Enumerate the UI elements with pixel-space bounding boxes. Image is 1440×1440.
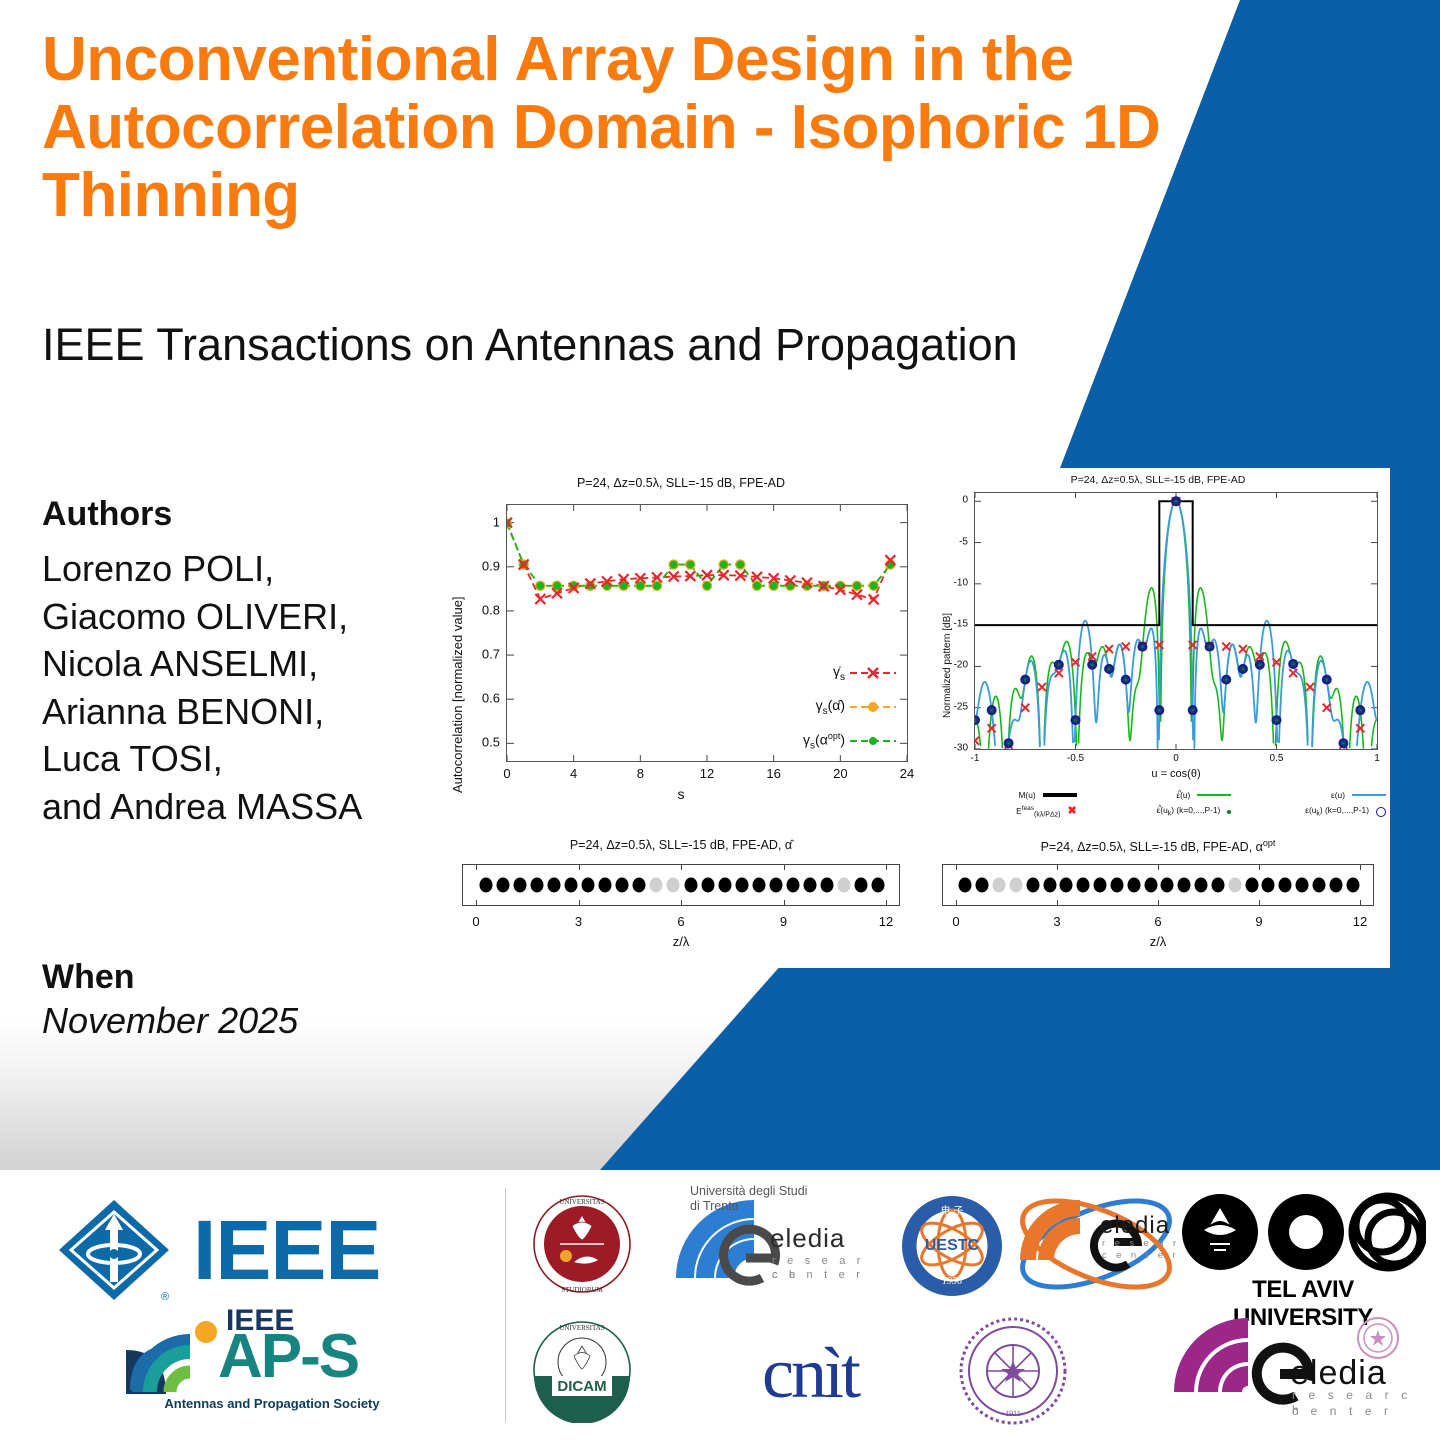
- array-element-on: [1296, 878, 1309, 893]
- array-element-on: [1262, 878, 1275, 893]
- svg-text:DICAM: DICAM: [557, 1378, 606, 1395]
- legend-swatch-gamma-opt: [850, 735, 896, 747]
- array-element-on: [821, 878, 834, 893]
- array-element-on: [1060, 878, 1073, 893]
- array-x-tick-label: 6: [1154, 914, 1161, 929]
- array-element-on: [547, 878, 560, 893]
- legend-label-mu: M(u): [1018, 790, 1035, 800]
- array-right-title-sup: opt: [1263, 838, 1276, 848]
- svg-text:STUDIORUM: STUDIORUM: [561, 1286, 603, 1294]
- array-element-on: [752, 878, 765, 893]
- array-tick-mark: [1360, 900, 1361, 906]
- y-tick-label: -30: [934, 743, 968, 754]
- unitn-seal-icon: UNIVERSITAS STUDIORUM: [530, 1192, 635, 1297]
- legend-marker-red-x: ✖: [1067, 806, 1076, 817]
- x-tick-label: -0.5: [1067, 753, 1084, 764]
- y-tick-label: -5: [934, 536, 968, 547]
- array-tick-mark: [784, 864, 785, 870]
- array-left-x-axis-label: z/λ: [436, 934, 926, 949]
- ieee-aps-logo: IEEE AP-S Antennas and Propagation Socie…: [108, 1300, 438, 1420]
- array-element-on: [787, 878, 800, 893]
- array-x-tick-label: 12: [1353, 914, 1367, 929]
- svg-text:UNIVERSITAS: UNIVERSITAS: [559, 1198, 604, 1206]
- autocorrelation-legend: γ̇s γs(α̂) γs(αopt): [736, 663, 896, 723]
- array-x-tick-label: 3: [1053, 914, 1060, 929]
- eledia-sub2-3: c e n t e r: [1292, 1404, 1393, 1419]
- eledia-wordmark-1: eledia: [770, 1226, 845, 1250]
- aps-wordmark: AP-S: [218, 1326, 358, 1388]
- eledia-sub2-1: c e n t e r: [772, 1268, 864, 1282]
- array-tick-mark: [1158, 900, 1159, 906]
- array-tick-mark: [579, 900, 580, 906]
- autocorrelation-x-axis-label: s: [436, 786, 926, 802]
- y-tick-label: 0.9: [460, 558, 500, 573]
- unitn-name-line2: di Trento: [690, 1199, 739, 1214]
- legend-entry-gamma-star: γ̇s: [736, 663, 896, 683]
- legend-label-eps: ε(u): [1331, 790, 1345, 800]
- poster-root: Unconventional Array Design in the Autoc…: [0, 0, 1440, 1440]
- y-tick-label: 0.5: [460, 735, 500, 750]
- legend-swatch-gamma-star: [850, 667, 896, 679]
- array-element-off: [838, 878, 851, 893]
- array-element-on: [1127, 878, 1140, 893]
- array-element-on: [769, 878, 782, 893]
- array-element-on: [1329, 878, 1342, 893]
- array-element-off: [667, 878, 680, 893]
- array-element-on: [1161, 878, 1174, 893]
- eledia-sub2-2: c e n t e r: [1102, 1250, 1179, 1262]
- x-tick-label: 0: [503, 766, 510, 781]
- legend-label-eps-uk: ε(uk) (k=0,...,P-1): [1305, 805, 1369, 818]
- unitn-name-line1: Università degli Studi: [690, 1184, 807, 1199]
- y-tick-label: 0: [934, 495, 968, 506]
- array-tick-mark: [1259, 864, 1260, 870]
- legend-entry-eps: ε(u): [1235, 790, 1390, 800]
- legend-line-black: [1043, 793, 1077, 796]
- array-element-on: [959, 878, 972, 893]
- cnit-wordmark: cnìt: [762, 1332, 858, 1415]
- tel-aviv-university-logo: TEL AVIV UNIVERSITY: [1180, 1190, 1430, 1305]
- x-tick-label: 1: [1374, 753, 1380, 764]
- array-tick-mark: [886, 900, 887, 906]
- y-tick-label: 0.8: [460, 602, 500, 617]
- autocorrelation-plot-area: [506, 504, 908, 762]
- figure-panel-left: P=24, Δz=0.5λ, SLL=-15 dB, FPE-AD Autoco…: [436, 468, 926, 968]
- array-element-on: [496, 878, 509, 893]
- array-tick-mark: [1057, 900, 1058, 906]
- array-x-tick-label: 0: [952, 914, 959, 929]
- y-tick-label: -15: [934, 619, 968, 630]
- eledia-unitn-logo: Università degli Studi di Trento eledia …: [670, 1188, 880, 1298]
- x-tick-label: 24: [900, 766, 914, 781]
- legend-line-blue: [1352, 794, 1386, 796]
- array-element-on: [1077, 878, 1090, 893]
- svg-text:电 子: 电 子: [941, 1204, 964, 1217]
- cnit-logo: cnìt: [700, 1328, 920, 1418]
- dicam-seal-icon: DICAM UNIVERSITAS: [530, 1318, 635, 1423]
- array-element-on: [1178, 878, 1191, 893]
- legend-marker-blue-circle: [1376, 807, 1386, 817]
- legend-label-eps-hat-uk: ^ε(uk) (k=0,...,P-1): [1158, 805, 1220, 818]
- array-tick-mark: [681, 864, 682, 870]
- array-element-on: [804, 878, 817, 893]
- svg-text:UESTC: UESTC: [925, 1237, 980, 1254]
- legend-entry-efeas: Efeas(kλ/PΔz) ✖: [926, 805, 1081, 818]
- array-element-on: [1279, 878, 1292, 893]
- array-element-on: [616, 878, 629, 893]
- legend-label-gamma-hat: γs(α̂): [816, 697, 845, 717]
- pattern-chart-title: P=24, Δz=0.5λ, SLL=-15 dB, FPE-AD: [926, 474, 1390, 486]
- array-element-on: [684, 878, 697, 893]
- ieee-diamond-icon: ®: [55, 1196, 173, 1304]
- pattern-plot-area: [974, 492, 1378, 750]
- array-element-off: [993, 878, 1006, 893]
- x-tick-label: 4: [570, 766, 577, 781]
- legend-entry-eps-hat: ^ε(u): [1081, 790, 1236, 800]
- uestc-seal-icon: UESTC 1956 电 子: [900, 1194, 1004, 1298]
- legend-swatch-gamma-hat: [850, 701, 896, 713]
- x-tick-label: 0: [1173, 753, 1179, 764]
- pattern-series-layer: [975, 493, 1377, 749]
- y-tick-label: -20: [934, 660, 968, 671]
- array-tick-mark: [784, 900, 785, 906]
- array-tick-mark: [476, 900, 477, 906]
- array-element-on: [1094, 878, 1107, 893]
- legend-marker-x: [850, 667, 896, 679]
- array-element-on: [735, 878, 748, 893]
- array-tick-mark: [886, 864, 887, 870]
- array-element-on: [582, 878, 595, 893]
- array-tick-mark: [579, 864, 580, 870]
- array-left-title: P=24, Δz=0.5λ, SLL=-15 dB, FPE-AD, α̂: [436, 838, 926, 852]
- array-x-tick-label: 12: [879, 914, 893, 929]
- y-tick-label: 0.6: [460, 691, 500, 706]
- legend-entry-eps-hat-uk: ^ε(uk) (k=0,...,P-1): [1081, 805, 1236, 818]
- tsinghua-year-text: ~1911~: [1001, 1409, 1026, 1418]
- legend-marker-dot-green: [850, 735, 896, 747]
- authors-list: Lorenzo POLI, Giacomo OLIVERI, Nicola AN…: [42, 545, 362, 830]
- array-element-on: [872, 878, 885, 893]
- legend-label-gamma-opt: γs(αopt): [803, 731, 845, 751]
- tsinghua-seal-icon: ~1911~: [958, 1316, 1068, 1426]
- page-title: Unconventional Array Design in the Autoc…: [42, 26, 1302, 231]
- x-tick-label: -1: [971, 753, 980, 764]
- array-element-on: [1312, 878, 1325, 893]
- when-value: November 2025: [42, 1000, 298, 1042]
- legend-line-green: [1197, 794, 1231, 796]
- pattern-legend: M(u) ^ε(u) ε(u) Efeas(kλ/PΔz) ✖: [926, 790, 1390, 818]
- array-x-tick-label: 0: [472, 914, 479, 929]
- y-tick-label: -10: [934, 577, 968, 588]
- legend-entry-gamma-opt: γs(αopt): [736, 731, 896, 751]
- array-tick-mark: [1158, 864, 1159, 870]
- y-tick-label: 0.7: [460, 647, 500, 662]
- array-element-on: [564, 878, 577, 893]
- array-tick-mark: [956, 864, 957, 870]
- array-element-on: [1026, 878, 1039, 893]
- array-tick-mark: [1360, 864, 1361, 870]
- array-element-off: [1228, 878, 1241, 893]
- figure-panel-right: P=24, Δz=0.5λ, SLL=-15 dB, FPE-AD Normal…: [926, 468, 1390, 968]
- pattern-legend-row-1: M(u) ^ε(u) ε(u): [926, 790, 1390, 800]
- array-element-on: [1144, 878, 1157, 893]
- footer-divider-1: [505, 1188, 506, 1422]
- y-tick-label: -25: [934, 701, 968, 712]
- array-element-on: [530, 878, 543, 893]
- array-element-off: [650, 878, 663, 893]
- array-element-on: [513, 878, 526, 893]
- pattern-x-axis-label: u = cos(θ): [974, 768, 1378, 780]
- array-element-on: [1110, 878, 1123, 893]
- aps-caption: Antennas and Propagation Society: [112, 1396, 432, 1411]
- when-heading: When: [42, 958, 135, 997]
- x-tick-label: 16: [766, 766, 780, 781]
- ieee-logo: ® IEEE: [55, 1192, 475, 1307]
- tau-marks-icon: [1180, 1190, 1426, 1274]
- authors-heading: Authors: [42, 495, 172, 534]
- array-right-title: P=24, Δz=0.5λ, SLL=-15 dB, FPE-AD, αopt: [926, 838, 1390, 854]
- array-element-on: [599, 878, 612, 893]
- array-x-tick-label: 9: [780, 914, 787, 929]
- svg-text:1956: 1956: [942, 1276, 962, 1287]
- array-element-on: [1211, 878, 1224, 893]
- journal-subtitle: IEEE Transactions on Antennas and Propag…: [42, 318, 1052, 373]
- eledia-wordmark-2: eledia: [1100, 1212, 1170, 1240]
- legend-label-eps-hat: ^ε(u): [1178, 790, 1190, 800]
- legend-label-efeas: Efeas(kλ/PΔz): [1016, 805, 1060, 818]
- array-element-on: [479, 878, 492, 893]
- array-element-on: [1195, 878, 1208, 893]
- array-element-on: [1245, 878, 1258, 893]
- array-tick-mark: [476, 864, 477, 870]
- pattern-legend-row-2: Efeas(kλ/PΔz) ✖ ^ε(uk) (k=0,...,P-1) ε(u…: [926, 805, 1390, 818]
- array-element-on: [701, 878, 714, 893]
- x-tick-label: 0.5: [1270, 753, 1284, 764]
- legend-entry-mu: M(u): [926, 790, 1081, 800]
- legend-entry-gamma-hat: γs(α̂): [736, 697, 896, 717]
- array-tick-mark: [1057, 864, 1058, 870]
- ieee-wordmark: IEEE: [193, 1208, 380, 1292]
- array-element-on: [633, 878, 646, 893]
- array-right-x-axis-label: z/λ: [926, 934, 1390, 949]
- x-tick-label: 20: [833, 766, 847, 781]
- array-x-tick-label: 6: [677, 914, 684, 929]
- array-element-on: [718, 878, 731, 893]
- array-element-on: [1043, 878, 1056, 893]
- array-element-on: [976, 878, 989, 893]
- array-x-tick-label: 9: [1255, 914, 1262, 929]
- x-tick-label: 8: [637, 766, 644, 781]
- y-tick-label: 1: [460, 514, 500, 529]
- legend-marker-green-dot: [1227, 810, 1231, 814]
- x-tick-label: 12: [700, 766, 714, 781]
- array-element-on: [855, 878, 868, 893]
- autocorrelation-chart-title: P=24, Δz=0.5λ, SLL=-15 dB, FPE-AD: [436, 476, 926, 490]
- array-tick-mark: [956, 900, 957, 906]
- array-x-tick-label: 3: [575, 914, 582, 929]
- array-tick-mark: [1259, 900, 1260, 906]
- legend-entry-eps-uk: ε(uk) (k=0,...,P-1): [1235, 805, 1390, 818]
- svg-text:UNIVERSITAS: UNIVERSITAS: [559, 1324, 604, 1332]
- legend-marker-dot-orange: [850, 701, 896, 713]
- legend-label-gamma-star: γ̇s: [833, 663, 845, 683]
- array-element-off: [1009, 878, 1022, 893]
- footer-logos: ® IEEE IEEE AP-S Antennas and Propagatio…: [0, 1170, 1440, 1440]
- eledia-purple-logo: eledia r e s e a r c h c e n t e r: [1170, 1316, 1420, 1426]
- array-element-on: [1346, 878, 1359, 893]
- array-tick-mark: [681, 900, 682, 906]
